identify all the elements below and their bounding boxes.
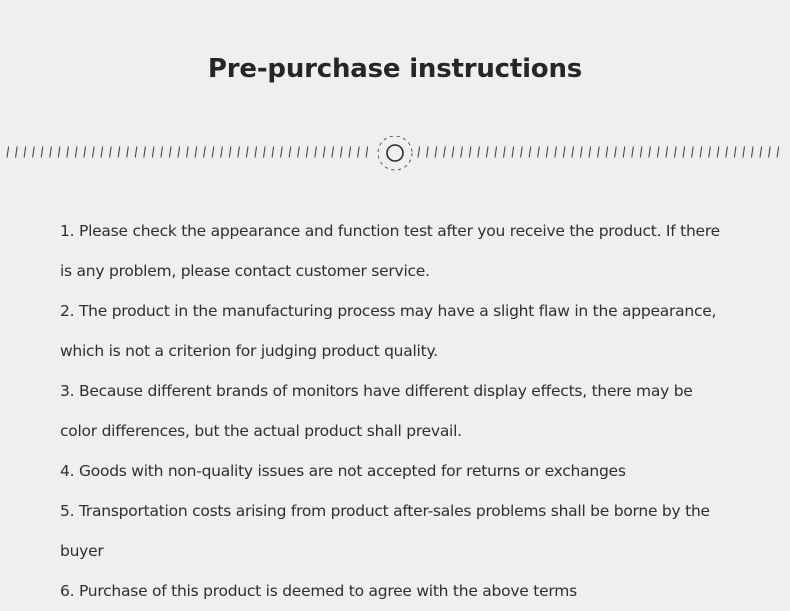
dashed-ring-icon <box>378 136 412 170</box>
instructions-list: 1. Please check the appearance and funct… <box>60 211 728 611</box>
instruction-item: 6. Purchase of this product is deemed to… <box>60 571 728 611</box>
ornamental-divider <box>0 136 790 172</box>
instruction-item: 5. Transportation costs arising from pro… <box>60 491 728 571</box>
instruction-item: 1. Please check the appearance and funct… <box>60 211 728 291</box>
instruction-item: 2. The product in the manufacturing proc… <box>60 291 728 371</box>
page-title-container: Pre-purchase instructions <box>0 52 790 86</box>
pre-purchase-instructions-page: Pre-purchase instructions 1. Please chec… <box>0 0 790 610</box>
instruction-item: 4. Goods with non-quality issues are not… <box>60 451 728 491</box>
instruction-item: 3. Because different brands of monitors … <box>60 371 728 451</box>
divider-ticks-right <box>418 147 779 158</box>
divider-ticks-left <box>7 147 368 158</box>
page-title: Pre-purchase instructions <box>208 52 582 86</box>
circle-icon <box>387 145 403 161</box>
